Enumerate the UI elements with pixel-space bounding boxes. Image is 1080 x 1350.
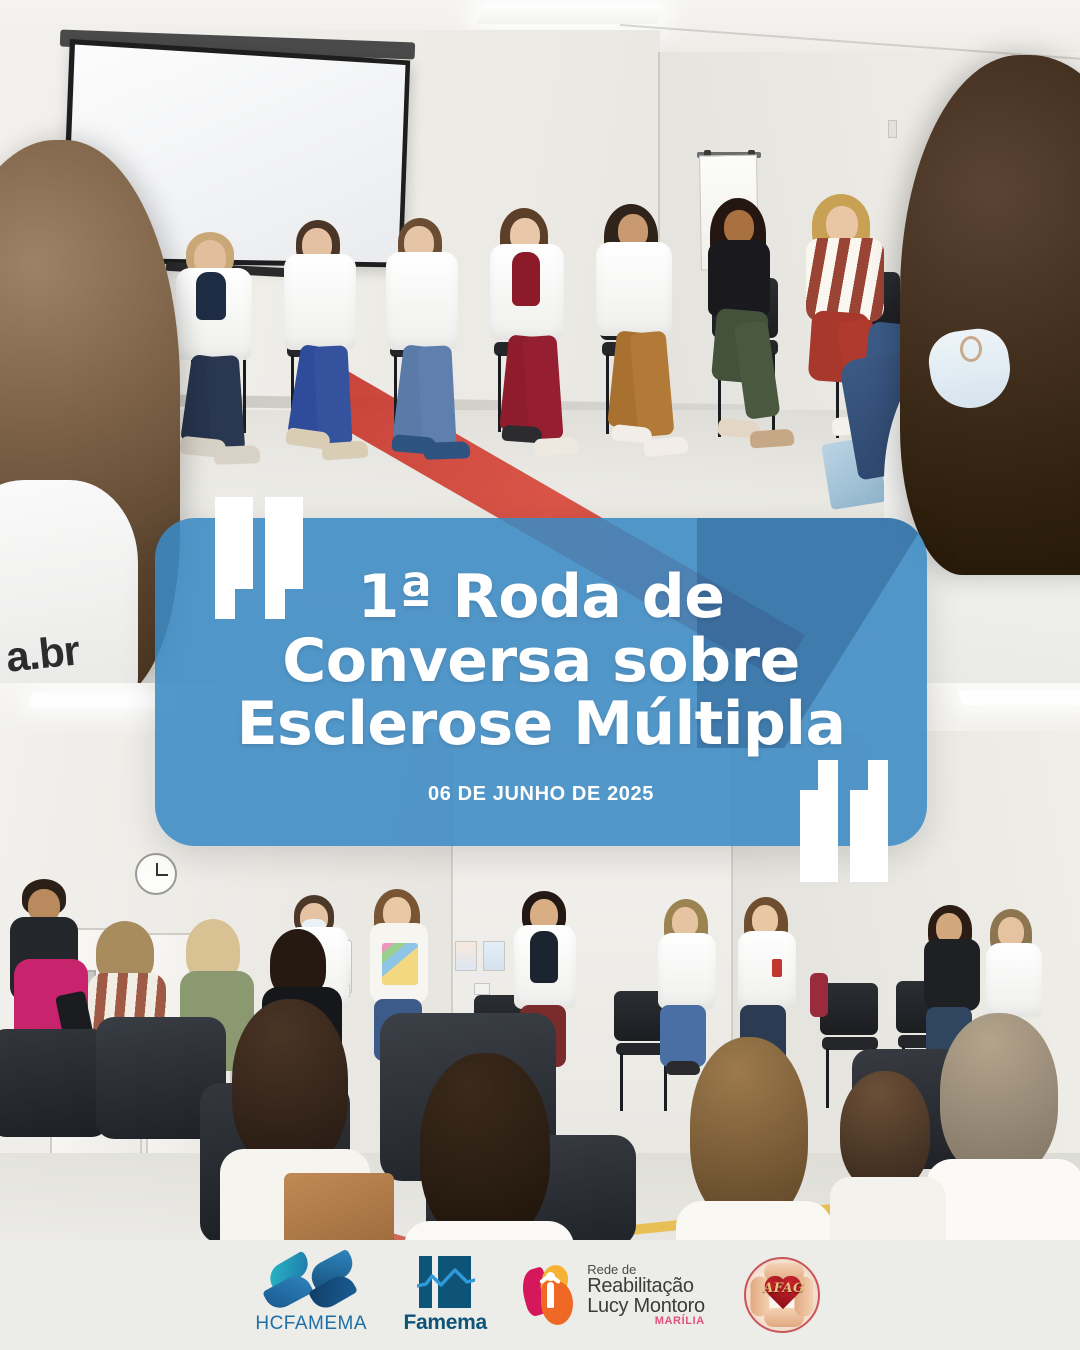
hcfamema-icon bbox=[265, 1256, 357, 1310]
famema-label: Famema bbox=[403, 1311, 486, 1335]
famema-wave-icon bbox=[417, 1268, 475, 1290]
event-date: 06 DE JUNHO DE 2025 bbox=[428, 783, 654, 806]
title-line-3: Esclerose Múltipla bbox=[237, 693, 846, 757]
ceiling-light bbox=[477, 4, 663, 24]
title-line-1: 1ª Roda de bbox=[237, 566, 846, 630]
quote-open-icon bbox=[215, 497, 315, 589]
afag-icon: AFAG bbox=[744, 1257, 820, 1333]
wall-poster bbox=[455, 941, 477, 971]
earring bbox=[960, 336, 982, 362]
tshirt-print bbox=[382, 943, 418, 985]
page-title: 1ª Roda de Conversa sobre Esclerose Múlt… bbox=[237, 566, 846, 757]
light-switch bbox=[474, 983, 490, 995]
quote-close-icon bbox=[800, 790, 900, 882]
lm-line-4: MARÍLIA bbox=[587, 1316, 705, 1327]
lm-line-3: Lucy Montoro bbox=[587, 1296, 705, 1316]
logo-afag: AFAG bbox=[739, 1257, 825, 1333]
shirt-text: a.br bbox=[4, 626, 82, 681]
water-bottle bbox=[810, 973, 828, 1017]
hcfamema-label: HCFAMEMA bbox=[255, 1313, 367, 1335]
ceiling-light bbox=[27, 693, 173, 707]
chair-back bbox=[0, 1029, 108, 1137]
logo-hcfamema: HCFAMEMA bbox=[255, 1256, 367, 1335]
logo-lucy-montoro: Rede de Reabilitação Lucy Montoro MARÍLI… bbox=[523, 1263, 705, 1327]
logo-bar: HCFAMEMA Famema Rede de R bbox=[0, 1240, 1080, 1350]
wall-clock bbox=[135, 853, 177, 895]
lm-line-2: Reabilitação bbox=[587, 1276, 705, 1296]
famema-icon bbox=[419, 1256, 471, 1308]
ceiling-light bbox=[957, 691, 1080, 705]
title-line-2: Conversa sobre bbox=[237, 630, 846, 694]
wall-poster bbox=[483, 941, 505, 971]
poster: a.br bbox=[0, 0, 1080, 1350]
lucy-montoro-wordmark: Rede de Reabilitação Lucy Montoro MARÍLI… bbox=[587, 1263, 705, 1327]
afag-label: AFAG bbox=[746, 1281, 820, 1296]
handbag bbox=[284, 1173, 394, 1240]
logo-famema: Famema bbox=[401, 1256, 489, 1335]
lucy-montoro-icon bbox=[523, 1265, 579, 1325]
badge bbox=[772, 959, 782, 977]
wall-socket bbox=[888, 120, 897, 138]
